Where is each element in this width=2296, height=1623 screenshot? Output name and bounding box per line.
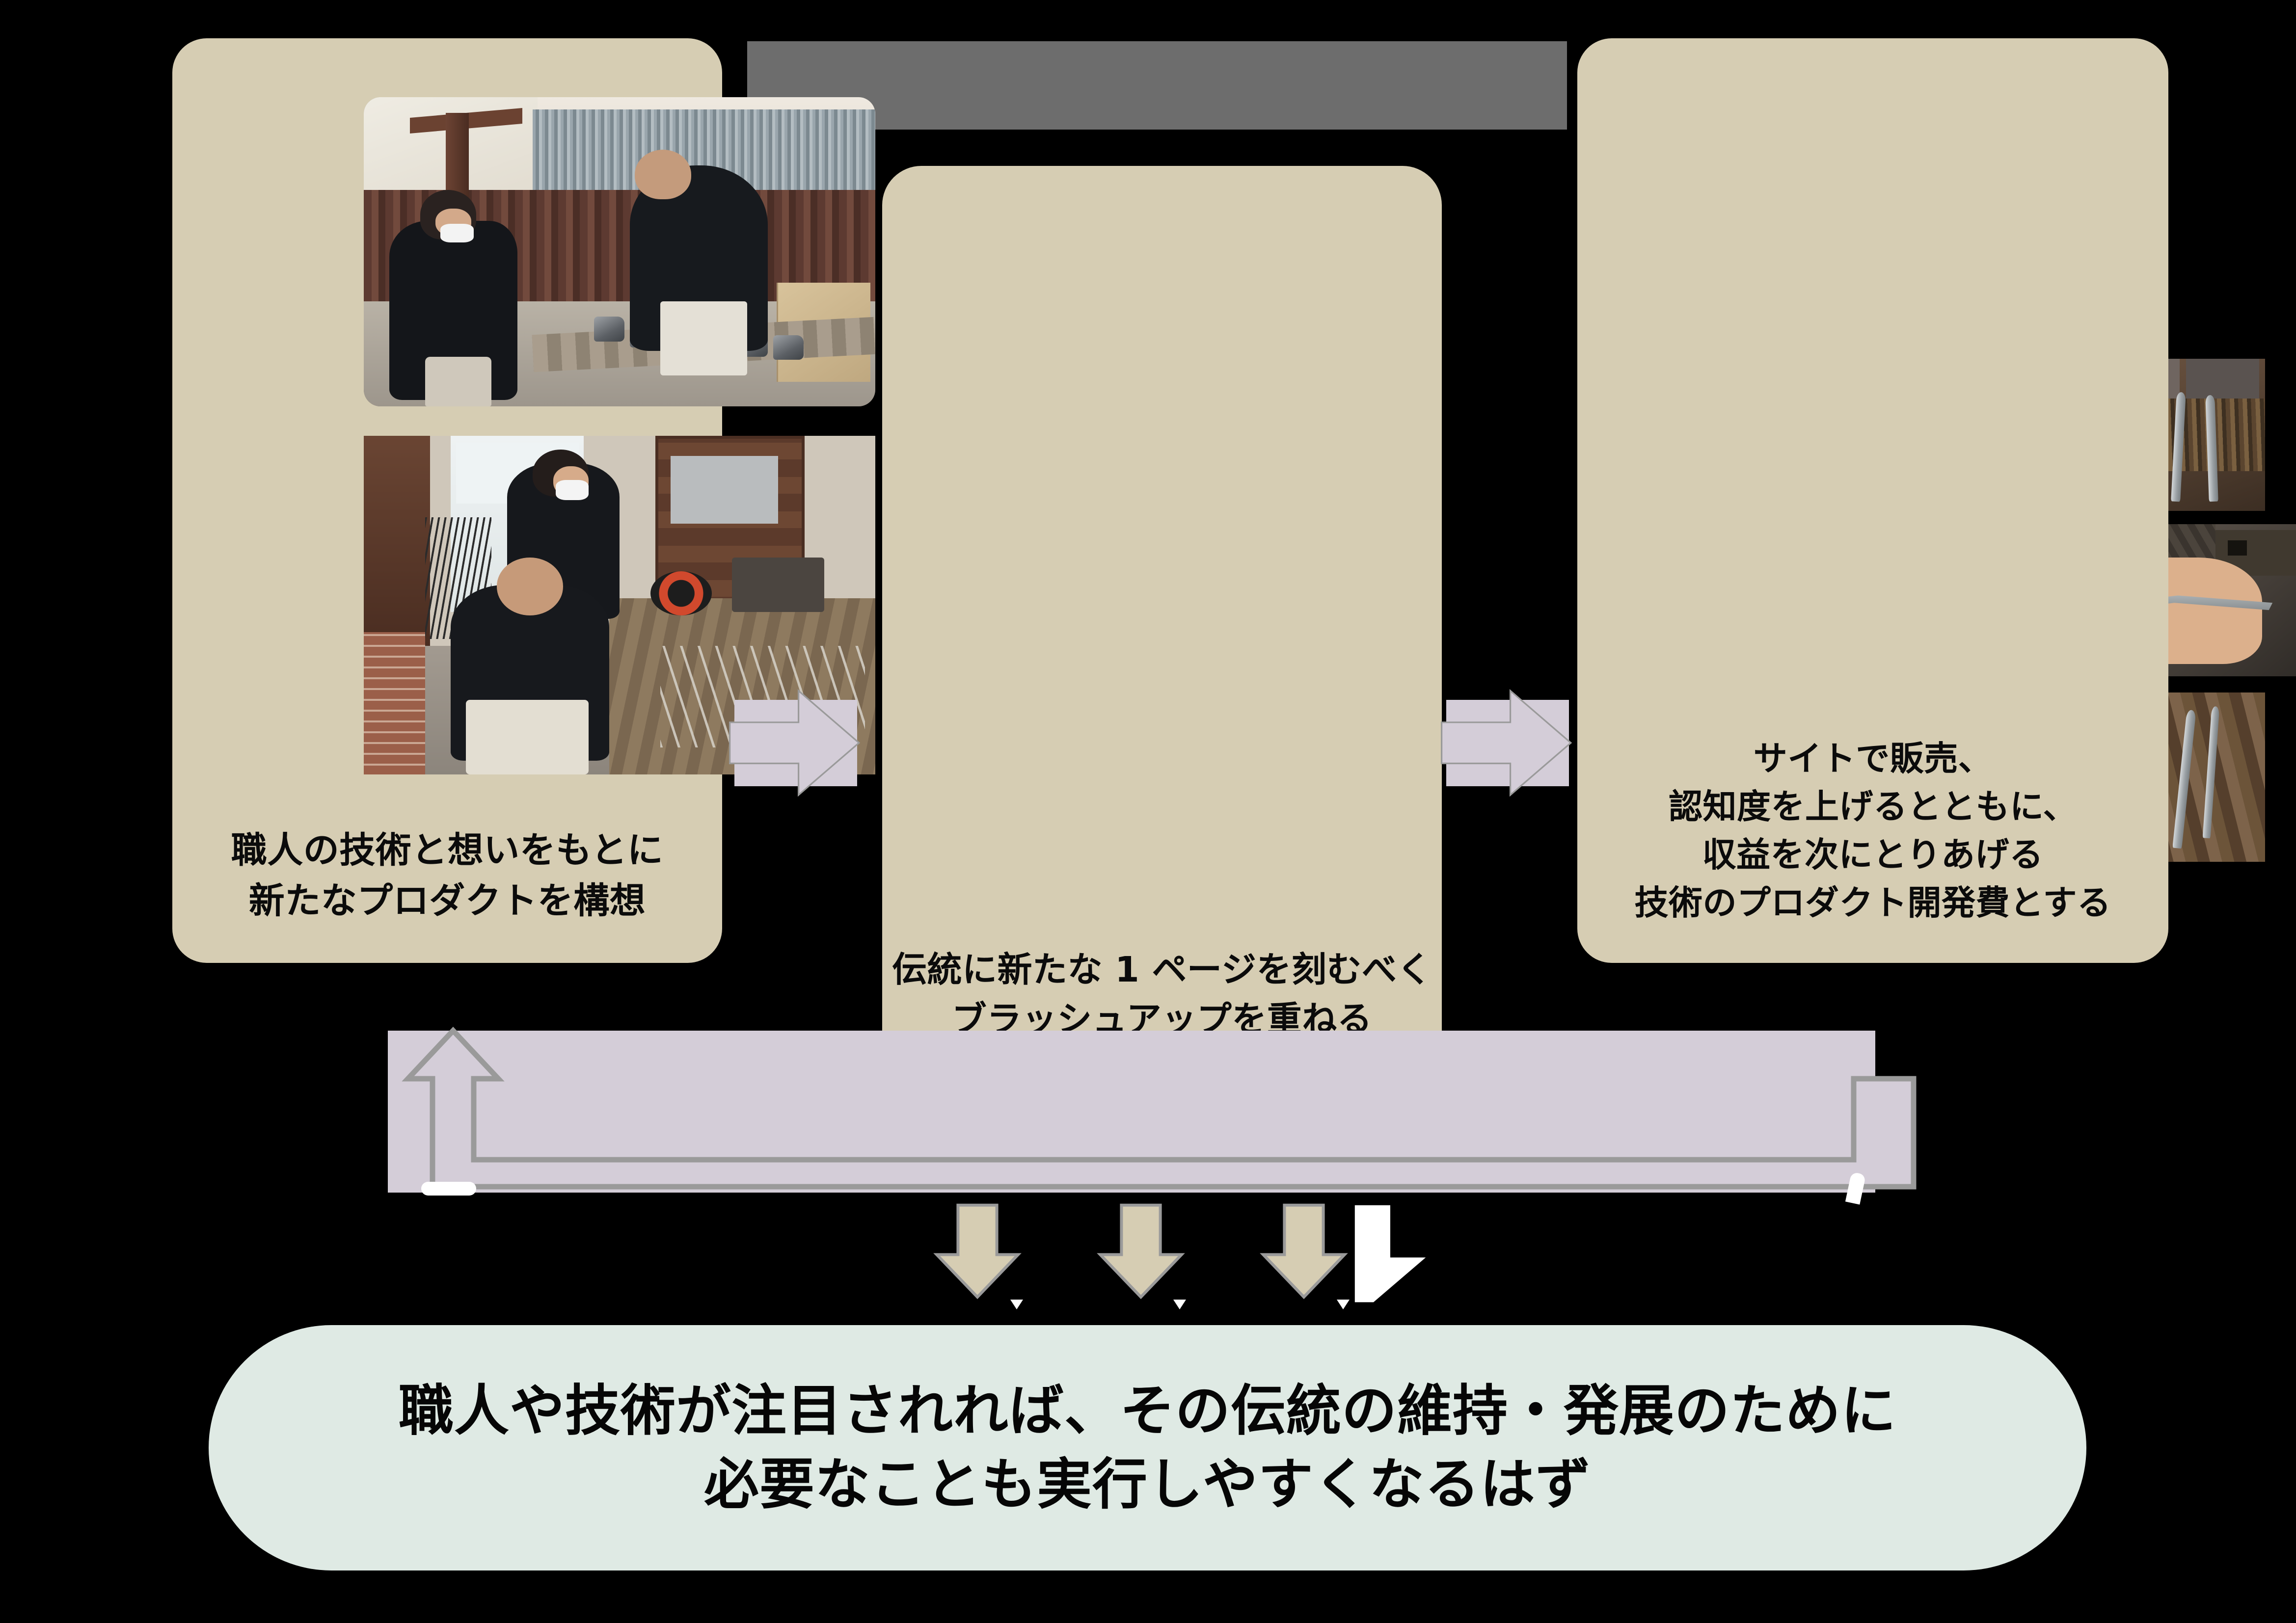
caption-line: 新たなプロダクトを構想 — [172, 876, 722, 927]
step-1-caption: 職人の技術と想いをもとに 新たなプロダクトを構想 — [172, 825, 722, 927]
down-arrow-white-overlay — [1353, 1203, 1446, 1302]
down-arrow-1 — [933, 1203, 1022, 1297]
caption-line: 技術のプロダクト開発費とする — [1577, 879, 2168, 928]
caption-line: 職人の技術と想いをもとに — [172, 825, 722, 876]
feedback-loop-arrow — [388, 1026, 1875, 1197]
banner-line: 必要なことも実行しやすくなるはず — [399, 1448, 1896, 1521]
conclusion-text: 職人や技術が注目されれば、その伝統の維持・発展のために 必要なことも実行しやすく… — [399, 1374, 1896, 1521]
arrow-step2-to-step3 — [1446, 700, 1569, 786]
down-arrow-3 — [1260, 1203, 1348, 1297]
diagram-canvas: 職人の技術と想いをもとに 新たなプロダクトを構想 — [0, 0, 2296, 1623]
step-card-1: 職人の技術と想いをもとに 新たなプロダクトを構想 — [172, 38, 722, 963]
banner-line: 職人や技術が注目されれば、その伝統の維持・発展のために — [399, 1374, 1896, 1448]
down-arrow-2 — [1097, 1203, 1185, 1297]
conclusion-banner: 職人や技術が注目されれば、その伝統の維持・発展のために 必要なことも実行しやすく… — [209, 1325, 2086, 1570]
step-card-3: HITOFURI HITOFURI — [1577, 38, 2168, 963]
caption-line: サイトで販売、 — [1577, 735, 2168, 783]
caption-line: 認知度を上げるとともに、 — [1577, 783, 2168, 831]
arrow-step1-to-step2 — [734, 700, 857, 786]
step-card-2: 伝統に新たな 1 ページを刻むべく ブラッシュアップを重ねる — [882, 166, 1442, 1070]
caption-line: 収益を次にとりあげる — [1577, 831, 2168, 879]
photo-tamahagane-inspection — [364, 97, 875, 406]
step-3-caption: サイトで販売、 認知度を上げるとともに、 収益を次にとりあげる 技術のプロダクト… — [1577, 735, 2168, 928]
caption-line: 伝統に新たな 1 ページを刻むべく — [882, 945, 1442, 995]
